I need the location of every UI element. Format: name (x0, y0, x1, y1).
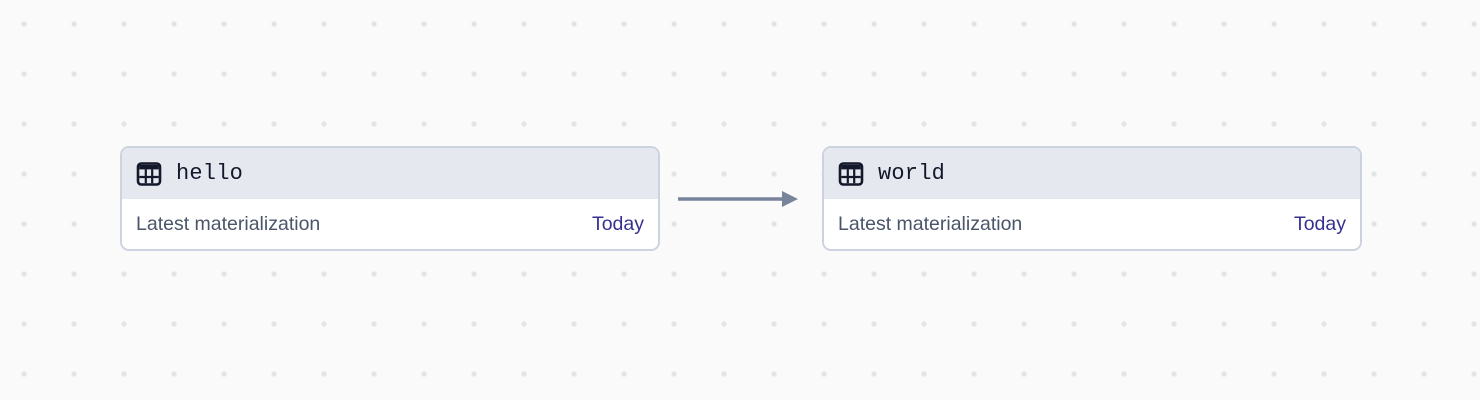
asset-node-title: hello (176, 163, 243, 185)
table-icon (838, 161, 864, 187)
asset-node-body: Latest materialization Today (122, 199, 658, 249)
latest-materialization-value[interactable]: Today (592, 213, 644, 236)
table-icon (136, 161, 162, 187)
asset-node-header[interactable]: hello (122, 148, 658, 199)
latest-materialization-value[interactable]: Today (1294, 213, 1346, 236)
edge-hello-to-world[interactable] (672, 182, 808, 216)
asset-node-header[interactable]: world (824, 148, 1360, 199)
asset-node-title: world (878, 163, 945, 185)
arrowhead-icon (782, 191, 798, 207)
latest-materialization-label: Latest materialization (838, 213, 1022, 236)
asset-node-body: Latest materialization Today (824, 199, 1360, 249)
latest-materialization-label: Latest materialization (136, 213, 320, 236)
asset-node-hello[interactable]: hello Latest materialization Today (120, 146, 660, 251)
asset-graph-canvas[interactable]: hello Latest materialization Today world… (0, 0, 1480, 400)
asset-node-world[interactable]: world Latest materialization Today (822, 146, 1362, 251)
